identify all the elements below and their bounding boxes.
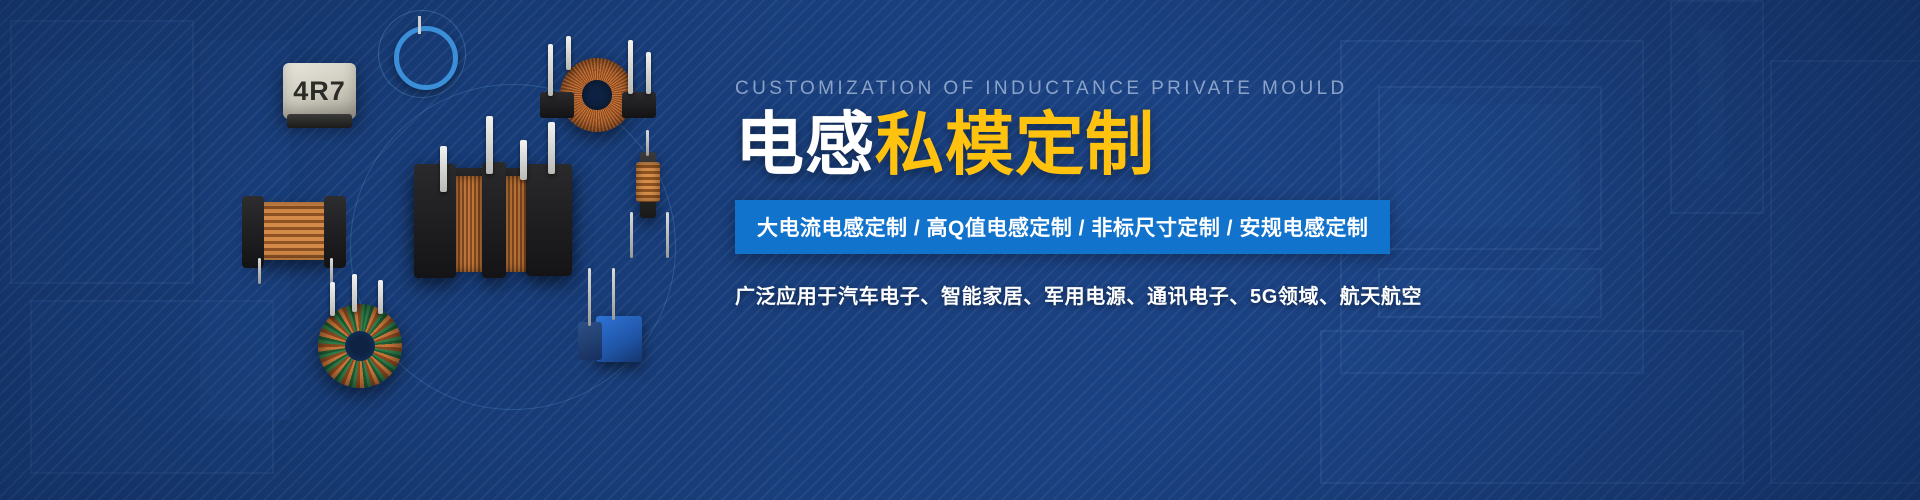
ee-core-pin-1 [440,146,447,192]
green-choke-pin-1 [330,282,335,316]
smd-marking-label: 4R7 [293,76,346,107]
rod-core-copper-winding [636,162,660,202]
ee-core-block-left [414,164,456,278]
ee-core-copper-winding-left [452,176,486,272]
service-list-text: 大电流电感定制 / 高Q值电感定制 / 非标尺寸定制 / 安规电感定制 [757,217,1368,240]
blue-radial-lead-1 [588,268,591,326]
choke-pin-2 [566,36,571,70]
flat-wire-coil-lead-2 [330,258,333,284]
blue-radial-inductor-body-dark [578,322,602,360]
headline-accent: 私模定制 [875,106,1155,183]
flat-wire-coil-lead-1 [258,258,261,284]
smd-base [287,114,352,128]
ee-core-block-mid [482,162,506,278]
ee-core-pin-4 [548,122,555,174]
ee-core-pin-2 [486,116,493,174]
blue-radial-lead-2 [612,268,615,320]
product-hero-banner: 4R7 CUSTOMIZATION OF INDUCTANCE PRIVATE … [0,0,1920,500]
small-ring-coil [394,26,458,90]
rod-core-lead-right [666,212,669,258]
service-list-bar[interactable]: 大电流电感定制 / 高Q值电感定制 / 非标尺寸定制 / 安规电感定制 [735,200,1390,254]
choke-base-block-right [622,92,656,118]
applications-tagline: 广泛应用于汽车电子、智能家居、军用电源、通讯电子、5G领域、航天航空 [735,280,1735,309]
rod-core-lead-left [630,212,633,258]
banner-copy-block: CUSTOMIZATION OF INDUCTANCE PRIVATE MOUL… [735,78,1735,309]
rod-core-lead-top [646,130,649,156]
choke-pin-4 [646,52,651,94]
page-title: 电感私模定制 [735,110,1735,180]
flat-wire-coil-bracket-left [242,196,264,268]
ee-core-pin-3 [520,140,527,180]
ee-core-block-right [526,164,572,276]
blue-radial-inductor [596,316,642,362]
smd-power-inductor: 4R7 [283,63,356,119]
headline-primary: 电感 [735,106,875,183]
choke-pin-1 [548,44,553,96]
green-choke-pin-3 [378,280,383,314]
choke-base-block-left [540,92,574,118]
small-ring-coil-lead [418,16,421,34]
flat-wire-coil-bracket-right [324,196,346,268]
choke-pin-3 [628,40,633,94]
english-eyebrow: CUSTOMIZATION OF INDUCTANCE PRIVATE MOUL… [735,78,1735,100]
green-choke-pin-2 [352,274,357,312]
green-toroidal-choke-center [345,331,375,361]
